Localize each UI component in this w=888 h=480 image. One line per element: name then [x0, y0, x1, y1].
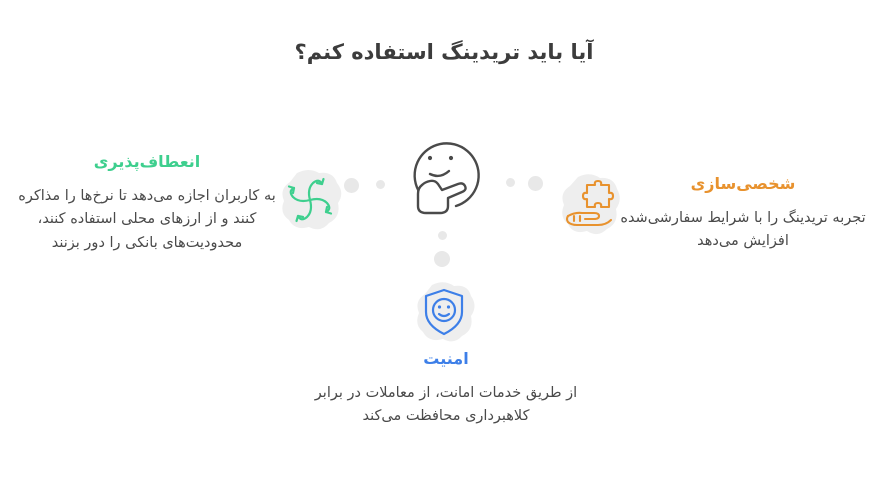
feature-heading-flexibility: انعطاف‌پذیری: [18, 152, 276, 173]
feature-heading-security: امنیت: [312, 349, 580, 370]
shield-smiley-icon: [411, 280, 477, 346]
feature-block-flexibility: انعطاف‌پذیری به کاربران اجازه می‌دهد تا …: [18, 152, 276, 255]
feature-body-flexibility: به کاربران اجازه می‌دهد تا نرخ‌ها را مذا…: [18, 185, 276, 255]
page-title: آیا باید تریدینگ استفاده کنم؟: [0, 40, 888, 64]
infographic-canvas: آیا باید تریدینگ استفاده کنم؟: [0, 0, 888, 480]
feature-block-security: امنیت از طریق خدمات امانت، از معاملات در…: [312, 349, 580, 429]
flexible-arrows-icon: [277, 167, 343, 233]
feature-body-security: از طریق خدمات امانت، از معاملات در برابر…: [312, 382, 580, 429]
connector-dot: [438, 231, 447, 240]
thinking-face-icon: [394, 122, 494, 218]
feature-body-personalization: تجربه تریدینگ را با شرایط سفارشی‌شده افز…: [612, 207, 874, 254]
connector-dot: [376, 180, 385, 189]
connector-dot: [434, 251, 450, 267]
feature-heading-personalization: شخصی‌سازی: [612, 174, 874, 195]
connector-dot: [528, 176, 543, 191]
connector-dot: [344, 178, 359, 193]
feature-block-personalization: شخصی‌سازی تجربه تریدینگ را با شرایط سفار…: [612, 174, 874, 254]
connector-dot: [506, 178, 515, 187]
